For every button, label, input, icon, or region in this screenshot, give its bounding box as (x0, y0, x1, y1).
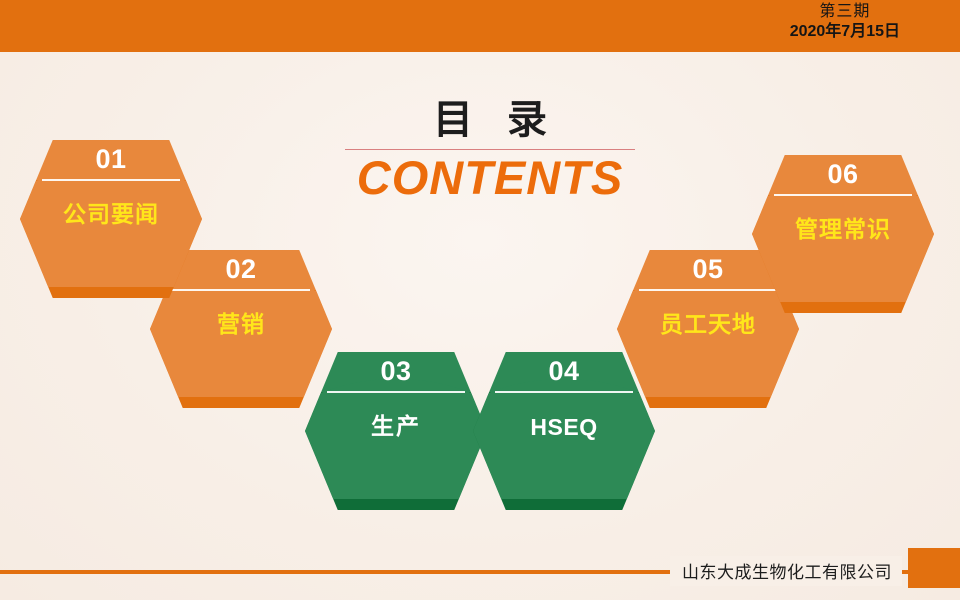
issue-number: 第三期 (790, 2, 900, 22)
toc-item-03[interactable]: 03 生产 (305, 352, 487, 510)
hex-divider (172, 289, 310, 291)
section-number: 01 (20, 142, 202, 177)
section-number: 03 (305, 354, 487, 389)
section-label: 管理常识 (752, 217, 934, 245)
hex-divider (327, 391, 465, 393)
section-number: 06 (752, 157, 934, 192)
slide-canvas: 第三期 2020年7月15日 目 录 CONTENTS 01 公司要闻 02 营… (0, 0, 960, 600)
issue-date: 2020年7月15日 (790, 22, 900, 42)
hex-divider (42, 179, 180, 181)
section-number: 04 (473, 354, 655, 389)
title-chinese: 目 录 (340, 100, 650, 140)
toc-item-06[interactable]: 06 管理常识 (752, 155, 934, 313)
company-name: 山东大成生物化工有限公司 (670, 556, 902, 586)
hex-divider (774, 194, 912, 196)
page-title: 目 录 CONTENTS (330, 100, 650, 204)
hex-divider (639, 289, 777, 291)
section-label: 公司要闻 (20, 202, 202, 230)
title-divider (345, 149, 635, 150)
section-label: 生产 (305, 414, 487, 442)
title-english: CONTENTS (330, 152, 650, 204)
footer-accent-block (908, 548, 960, 588)
section-label: 营销 (150, 312, 332, 340)
section-label: 员工天地 (617, 312, 799, 340)
section-label: HSEQ (473, 414, 655, 442)
toc-item-04[interactable]: 04 HSEQ (473, 352, 655, 510)
hex-divider (495, 391, 633, 393)
toc-item-01[interactable]: 01 公司要闻 (20, 140, 202, 298)
header-meta: 第三期 2020年7月15日 (790, 2, 900, 43)
